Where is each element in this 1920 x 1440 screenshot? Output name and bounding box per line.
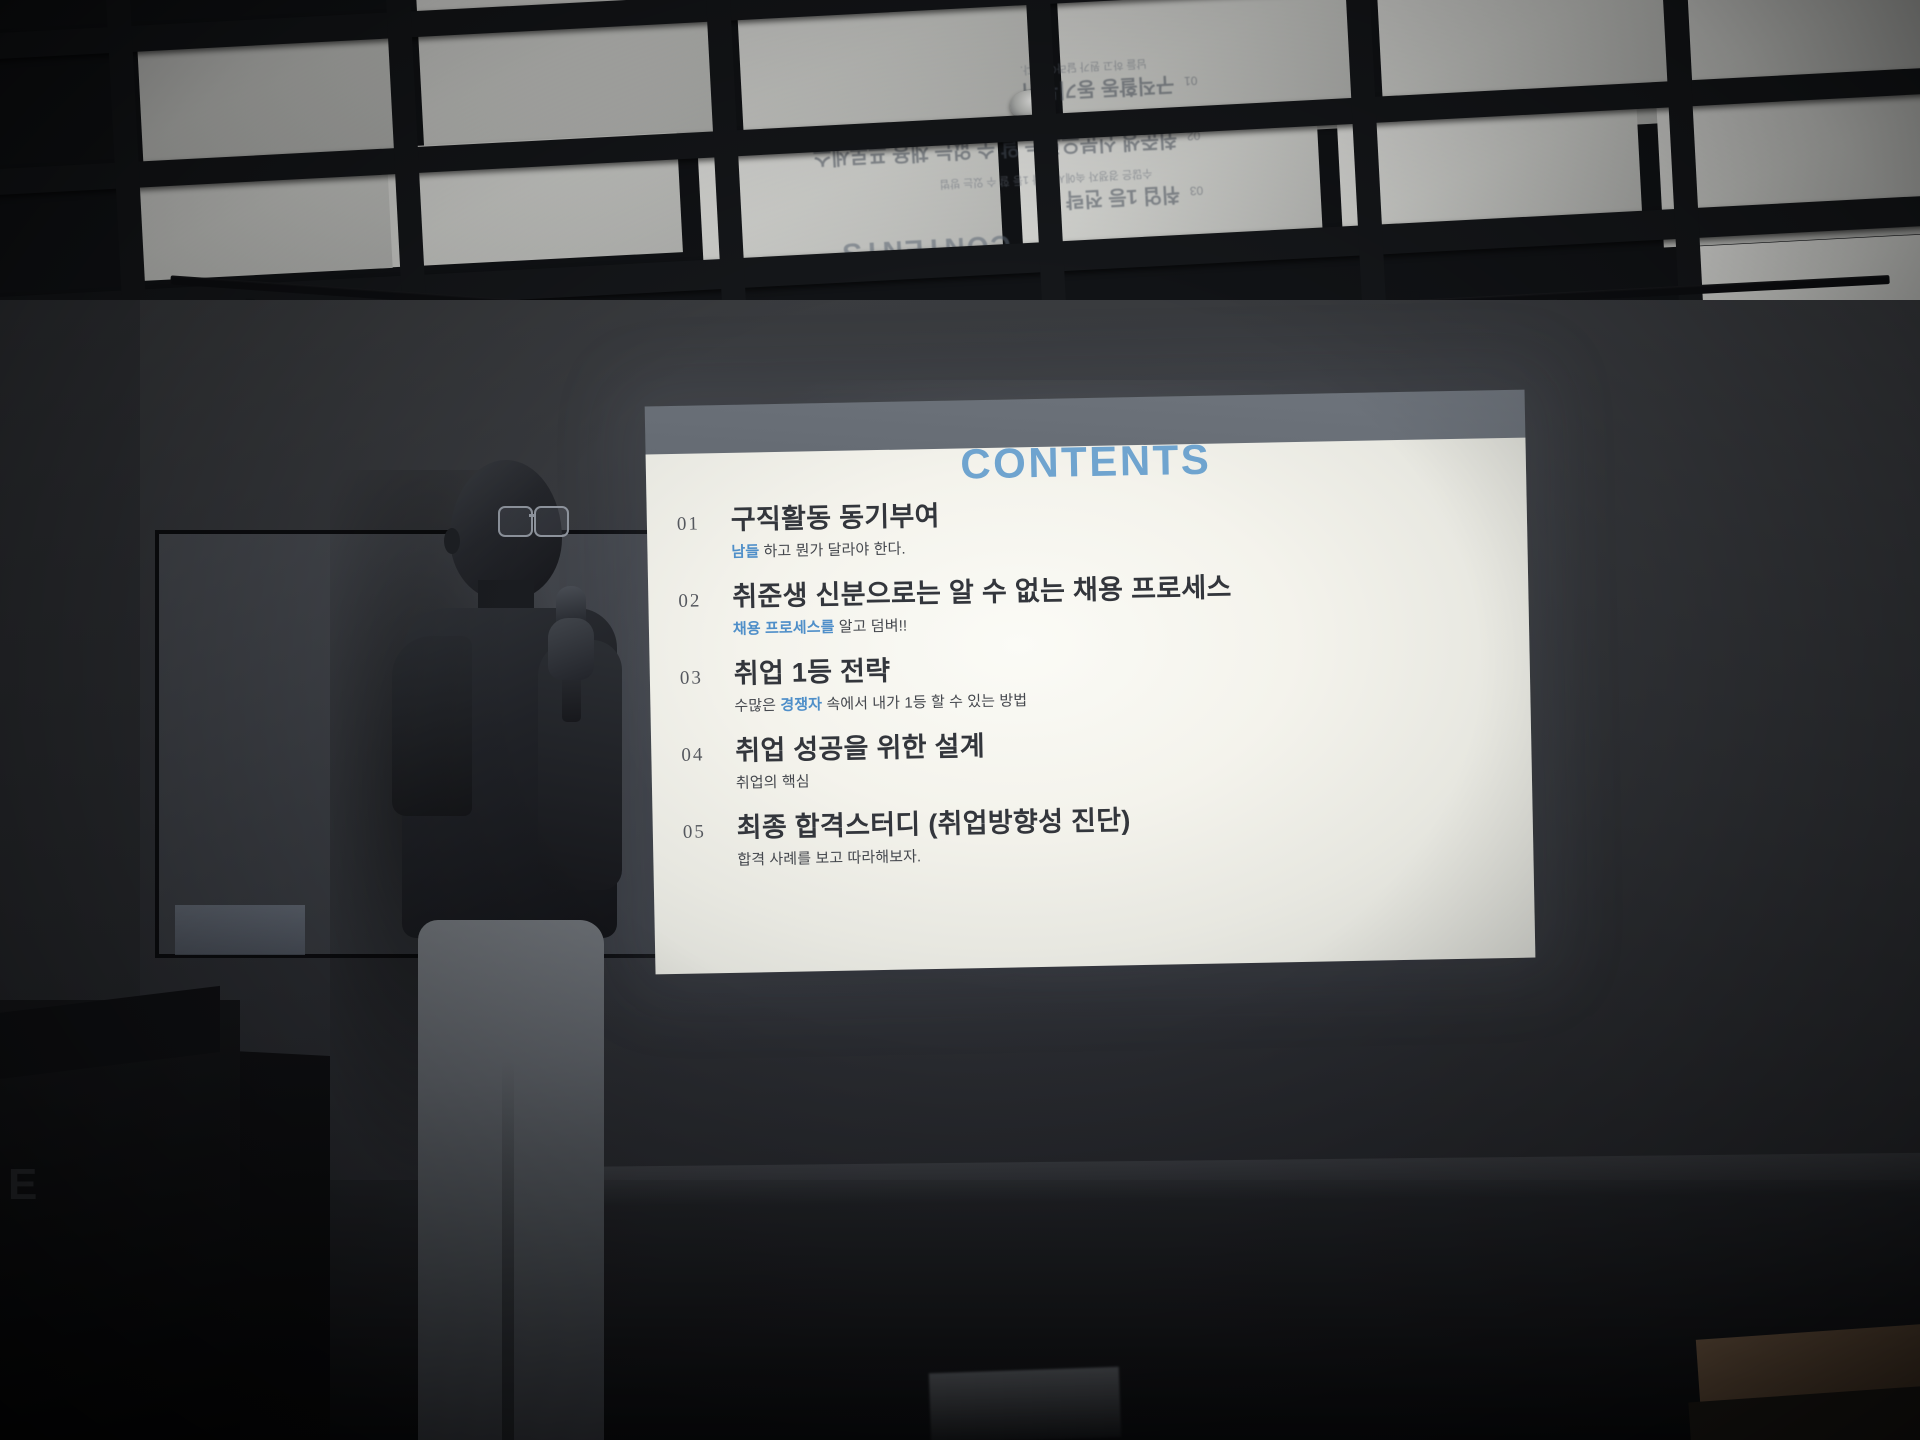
presenter xyxy=(380,440,680,1440)
subtitle-rest: 취업의 핵심 xyxy=(736,774,810,792)
slide-title: CONTENTS xyxy=(645,430,1526,495)
projection-screen: CONTENTS 01 구직활동 동기부여 남들 하고 뭔가 달라야 한다. 0… xyxy=(645,390,1536,972)
contents-item-number: 03 xyxy=(672,667,734,690)
subtitle-rest: 하고 뭔가 달라야 한다. xyxy=(759,541,906,561)
slide-content: CONTENTS 01 구직활동 동기부여 남들 하고 뭔가 달라야 한다. 0… xyxy=(646,438,1536,975)
subtitle-highlight: 경쟁자 xyxy=(780,696,822,714)
presenter-left-shoulder xyxy=(392,636,472,816)
glasses-icon xyxy=(498,506,568,536)
reflection-row-title: 취업 1등 전략 xyxy=(1065,181,1181,216)
contents-item: 05 최종 합격스터디 (취업방향성 진단) 합격 사례를 보고 따라해보자. xyxy=(674,798,1515,871)
subtitle-rest: 속에서 내가 1등 할 수 있는 방법 xyxy=(822,692,1027,713)
subtitle-pre: 수많은 xyxy=(734,697,780,715)
contents-item-number: 04 xyxy=(673,744,735,767)
reflection-row-number: 03 xyxy=(1189,183,1203,198)
contents-item: 03 취업 1등 전략 수많은 경쟁자 속에서 내가 1등 할 수 있는 방법 xyxy=(672,644,1513,717)
contents-item-title: 취준생 신분으로는 알 수 없는 채용 프로세스 xyxy=(732,572,1232,613)
contents-list: 01 구직활동 동기부여 남들 하고 뭔가 달라야 한다. 02 취준생 신분으… xyxy=(669,490,1516,891)
subtitle-rest: 알고 덤벼!! xyxy=(834,618,907,636)
contents-item-title: 취업 성공을 위한 설계 xyxy=(735,731,985,767)
ceiling: CONTENTS 03 취업 1등 전략 수많은 경쟁자 속에서 내가 1등 할… xyxy=(0,0,1920,330)
contents-item: 04 취업 성공을 위한 설계 취업의 핵심 xyxy=(673,721,1514,794)
contents-item: 01 구직활동 동기부여 남들 하고 뭔가 달라야 한다. xyxy=(669,490,1510,563)
contents-item-title: 취업 1등 전략 xyxy=(734,656,891,690)
reflection-row-number: 01 xyxy=(1184,73,1198,88)
contents-item-number: 05 xyxy=(675,821,737,844)
floor-light-patch xyxy=(929,1367,1121,1440)
presenter-hand xyxy=(548,618,594,680)
wall-board-note xyxy=(175,905,305,955)
contents-item: 02 취준생 신분으로는 알 수 없는 채용 프로세스 채용 프로세스를 알고 … xyxy=(670,567,1511,640)
subtitle-rest: 합격 사례를 보고 따라해보자. xyxy=(737,849,921,870)
subtitle-highlight: 남들 xyxy=(731,543,759,561)
contents-item-title: 구직활동 동기부여 xyxy=(731,501,940,536)
presentation-room-photo: CONTENTS 03 취업 1등 전략 수많은 경쟁자 속에서 내가 1등 할… xyxy=(0,0,1920,1440)
podium-mark: E xyxy=(8,1160,39,1210)
contents-item-title: 최종 합격스터디 (취업방향성 진단) xyxy=(736,805,1130,844)
subtitle-highlight: 채용 프로세스를 xyxy=(733,619,835,638)
presenter-leg-split xyxy=(502,1060,514,1440)
presenter-ear xyxy=(444,528,460,554)
